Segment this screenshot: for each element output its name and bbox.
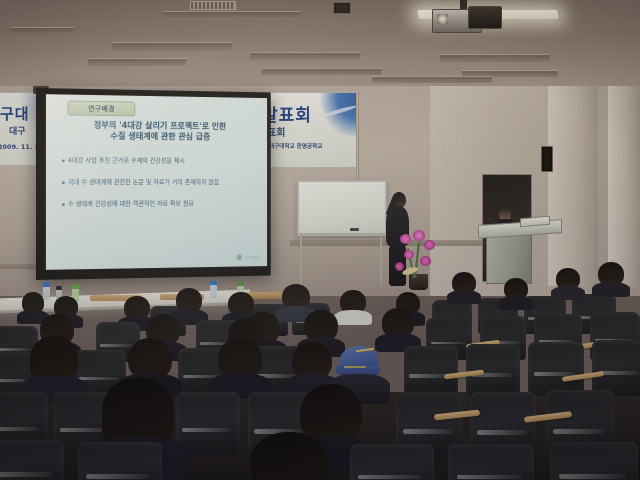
slide-bullet: 수 생태계 건강성에 대한 객관적인 자료 확보 필요 bbox=[62, 199, 267, 209]
audience-member bbox=[282, 284, 310, 310]
projector-lens bbox=[437, 14, 448, 24]
wall-speaker-icon bbox=[333, 2, 351, 14]
ceiling-light-fixture bbox=[439, 54, 550, 62]
ceiling-light-fixture bbox=[111, 42, 233, 51]
ceiling-light-fixture bbox=[87, 58, 187, 66]
bottle-body bbox=[43, 287, 50, 300]
ceiling-light-fixture bbox=[9, 27, 76, 35]
audience-member bbox=[452, 272, 476, 294]
slide-headline: 정부의 '4대강 살리기 프로젝트'로 인한 수질 생태계에 관한 관심 급증 bbox=[56, 120, 262, 144]
orchid-bloom bbox=[420, 256, 431, 266]
lectern bbox=[486, 230, 532, 284]
slide-bullet-list: 4대강 사업 추진 근거로 수계의 건강성을 제시 국내 수 생태계에 관한한 … bbox=[62, 156, 267, 222]
audience-shoulders bbox=[499, 296, 534, 310]
cap-accent-stripe bbox=[344, 366, 366, 368]
audience-shoulders bbox=[334, 310, 371, 325]
audience-member bbox=[292, 342, 332, 380]
audience-member bbox=[504, 278, 528, 300]
audience-member bbox=[250, 432, 328, 480]
audience-shoulders bbox=[447, 290, 482, 304]
audience-shoulders bbox=[551, 286, 586, 300]
slide-section-label: 연구배경 bbox=[88, 103, 115, 113]
seat[interactable] bbox=[0, 440, 64, 480]
projector-housing-dark bbox=[468, 6, 502, 29]
banner-right-affiliation: 대구대학교 한영공학교 bbox=[269, 142, 322, 150]
wall-pillar bbox=[548, 86, 598, 286]
audience-member bbox=[598, 262, 624, 286]
slide-bullet: 국내 수 생태계에 관한한 논문 및 자료가 거의 존재하지 않음 bbox=[62, 178, 267, 187]
audience-member bbox=[218, 338, 262, 380]
whiteboard-leg bbox=[380, 233, 382, 285]
orchid-bloom bbox=[424, 240, 435, 250]
whiteboard-tray bbox=[297, 233, 385, 235]
audience-member bbox=[556, 268, 580, 290]
seat[interactable] bbox=[350, 444, 434, 480]
mobile-whiteboard bbox=[297, 180, 387, 236]
audience-shoulders bbox=[592, 282, 629, 297]
ceiling-light-fixture bbox=[262, 68, 383, 75]
seat[interactable] bbox=[528, 342, 584, 396]
audience-member bbox=[176, 288, 202, 313]
orchid-bloom bbox=[413, 230, 425, 241]
water-bottle bbox=[210, 281, 217, 298]
seat[interactable] bbox=[550, 442, 638, 480]
slide-logo: 대구대학교 bbox=[237, 254, 260, 261]
whiteboard-leg bbox=[300, 233, 302, 289]
seat[interactable] bbox=[592, 340, 640, 396]
seat[interactable] bbox=[404, 346, 458, 396]
audience-member bbox=[382, 308, 414, 338]
projection-screen: 연구배경 정부의 '4대강 살리기 프로젝트'로 인한 수질 생태계에 관한 관… bbox=[36, 88, 271, 280]
orchid-bloom bbox=[395, 262, 404, 271]
seat[interactable] bbox=[448, 444, 534, 480]
orchid-bloom bbox=[404, 250, 414, 259]
slide-logo-mark-icon bbox=[237, 254, 243, 261]
audience-member bbox=[102, 378, 174, 448]
audience-member bbox=[128, 338, 172, 380]
ceiling-light-fixture bbox=[372, 76, 492, 83]
audience-member bbox=[304, 310, 338, 342]
slide-bullet: 4대강 사업 추진 근거로 수계의 건강성을 제시 bbox=[62, 156, 267, 166]
ceiling-light-fixture bbox=[249, 52, 360, 60]
presentation-slide: 연구배경 정부의 '4대강 살리기 프로젝트'로 인한 수질 생태계에 관한 관… bbox=[46, 94, 267, 270]
bottle-body bbox=[210, 285, 217, 298]
audience-member bbox=[22, 292, 44, 314]
slide-section-tab: 연구배경 bbox=[68, 101, 136, 117]
audience-member bbox=[30, 336, 78, 382]
banner-right: 발표회 표회 대구대학교 한영공학교 bbox=[258, 92, 360, 168]
lecture-hall-photo: 구대 대구 2009. 11. 20(금) 발표회 표회 대구대학교 한영공학교… bbox=[0, 0, 640, 480]
seat[interactable] bbox=[78, 442, 162, 480]
seat[interactable] bbox=[176, 392, 240, 456]
wall-speaker-icon bbox=[541, 146, 553, 172]
orchid-bloom bbox=[400, 234, 411, 244]
audience-member bbox=[340, 290, 366, 314]
wall-pillar bbox=[608, 86, 640, 286]
slide-headline-line-2: 수질 생태계에 관한 관심 급증 bbox=[56, 131, 262, 144]
ceiling-vent bbox=[190, 1, 236, 10]
banner-left-title: 구대 bbox=[0, 103, 30, 124]
whiteboard-marker-icon bbox=[350, 228, 359, 231]
orchid-plant bbox=[394, 228, 442, 290]
orchid-stem bbox=[414, 242, 420, 278]
water-bottle bbox=[43, 282, 50, 300]
ceiling-light-fixture bbox=[162, 11, 301, 20]
slide-logo-text: 대구대학교 bbox=[245, 255, 260, 260]
audience-head bbox=[250, 432, 328, 480]
banner-left-subtitle: 대구 bbox=[9, 124, 26, 137]
